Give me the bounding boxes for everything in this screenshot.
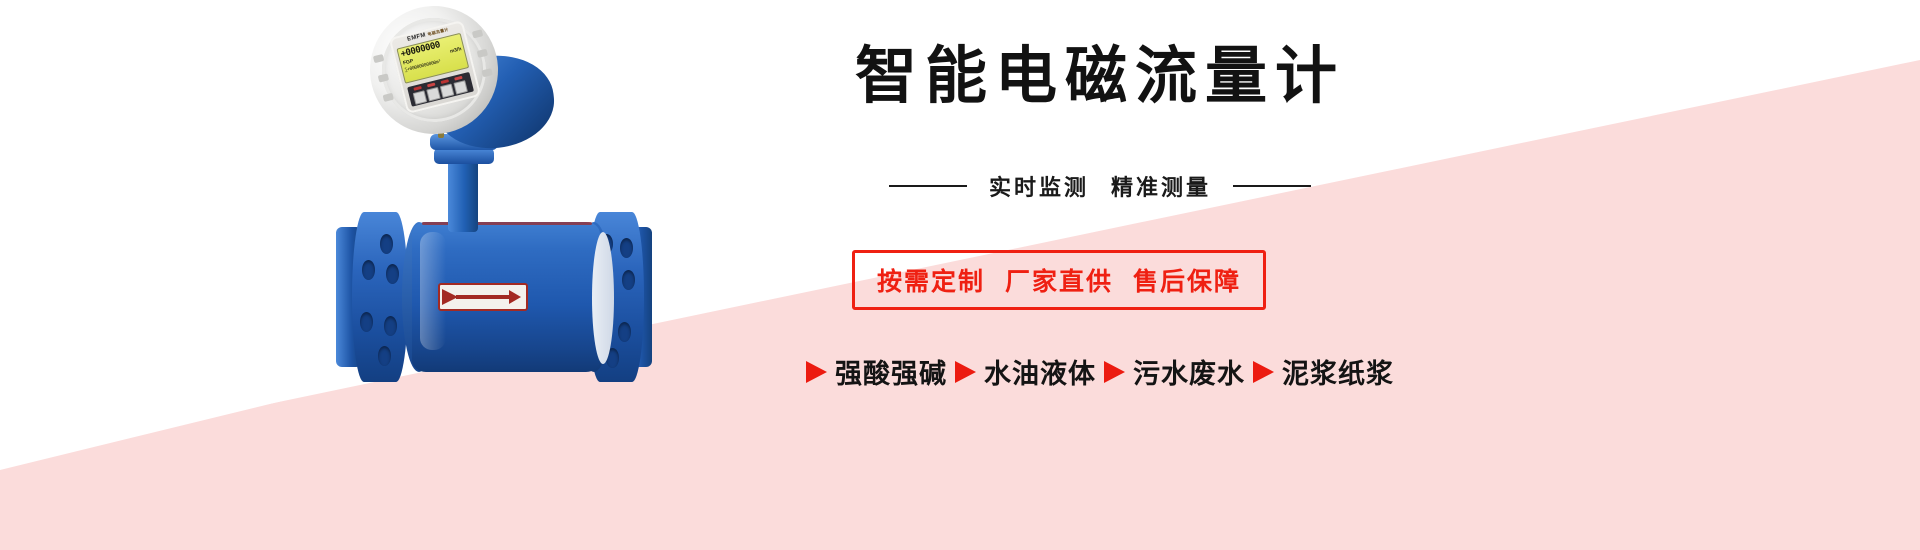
subtitle-rule-left xyxy=(889,185,967,187)
triangle-right-icon xyxy=(806,361,827,383)
highlight-item-2: 厂家直供 xyxy=(1005,268,1113,296)
list-item: 泥浆纸浆 xyxy=(1253,352,1394,391)
highlight-item-3: 售后保障 xyxy=(1133,268,1241,296)
brand-text-cn: 电磁流量计 xyxy=(427,27,449,37)
list-item: 污水废水 xyxy=(1104,352,1245,391)
triangle-right-icon xyxy=(1104,361,1125,383)
triangle-right-icon xyxy=(955,361,976,383)
list-item: 强酸强碱 xyxy=(806,352,947,391)
subtitle-left: 实时监测 xyxy=(989,175,1089,200)
neck-flange-lower xyxy=(434,148,494,164)
banner-content: 智能电磁流量计 实时监测精准测量 按需定制厂家直供售后保障 强酸强碱 水油液体 … xyxy=(600,0,1600,550)
product-banner: EMFM电磁流量计 +0000000 FGP m3/h ∑+0000000000… xyxy=(0,0,1920,550)
feature-list: 强酸强碱 水油液体 污水废水 泥浆纸浆 xyxy=(600,352,1600,391)
page-title: 智能电磁流量计 xyxy=(680,46,1520,108)
feature-label: 强酸强碱 xyxy=(835,352,947,391)
keypad-button-2[interactable] xyxy=(426,87,441,102)
feature-label: 污水废水 xyxy=(1133,352,1245,391)
feature-label: 水油液体 xyxy=(984,352,1096,391)
subtitle-rule-right xyxy=(1233,185,1311,187)
triangle-right-icon xyxy=(1253,361,1274,383)
subtitle-right: 精准测量 xyxy=(1111,175,1211,200)
highlight-item-1: 按需定制 xyxy=(877,268,985,296)
highlight-text: 按需定制厂家直供售后保障 xyxy=(877,262,1241,298)
meter-neck xyxy=(448,160,478,232)
keypad-button-3[interactable] xyxy=(440,84,455,99)
feature-label: 泥浆纸浆 xyxy=(1282,352,1394,391)
flange-left xyxy=(352,212,408,382)
keypad-button-4[interactable] xyxy=(453,80,468,95)
keypad-button-1[interactable] xyxy=(413,90,428,105)
highlight-box: 按需定制厂家直供售后保障 xyxy=(852,250,1266,310)
subtitle-row: 实时监测精准测量 xyxy=(680,170,1520,202)
subtitle-text: 实时监测精准测量 xyxy=(989,170,1211,202)
flow-direction-arrow-icon xyxy=(438,283,528,311)
list-item: 水油液体 xyxy=(955,352,1096,391)
